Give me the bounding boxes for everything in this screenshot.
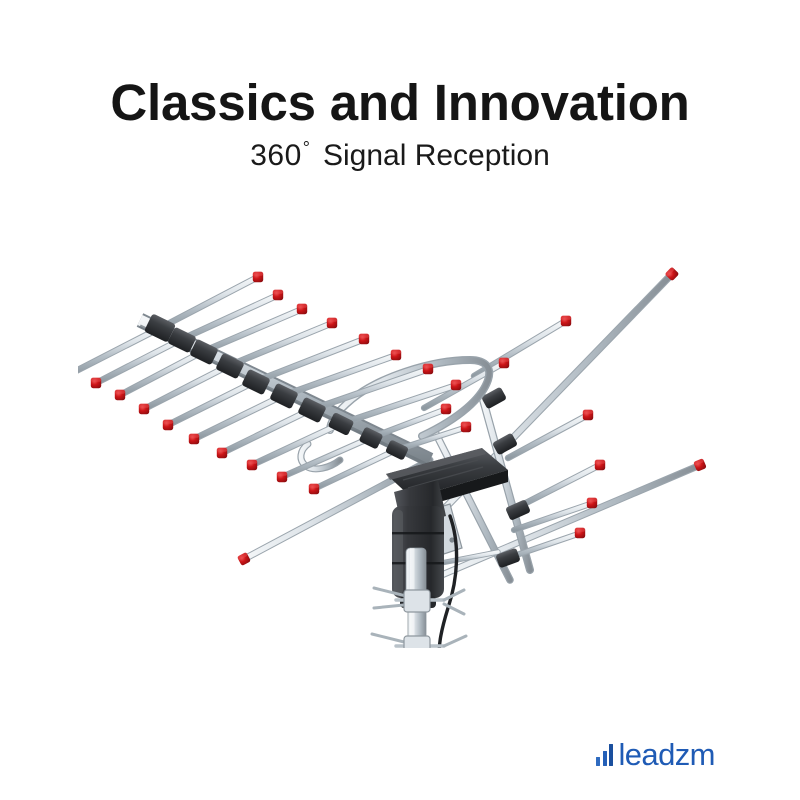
signal-bars-icon (596, 744, 616, 766)
heading-block: Classics and Innovation 360°Signal Recep… (0, 76, 800, 172)
page-subtitle: 360°Signal Reception (0, 139, 800, 172)
product-image (78, 248, 728, 648)
degree-symbol-icon: ° (303, 138, 310, 158)
page-root: Classics and Innovation 360°Signal Recep… (0, 0, 800, 800)
subtitle-text: Signal Reception (323, 139, 550, 172)
page-title: Classics and Innovation (0, 76, 800, 130)
antenna-illustration (78, 248, 728, 648)
subtitle-degree-value: 360 (250, 139, 302, 172)
brand-wordmark: leadzm (619, 741, 715, 768)
whip-upper-right (414, 267, 679, 540)
mounting-clamp-lower (372, 634, 466, 648)
brand-logo: leadzm (596, 734, 715, 768)
vhf-whip-arms (237, 267, 707, 580)
